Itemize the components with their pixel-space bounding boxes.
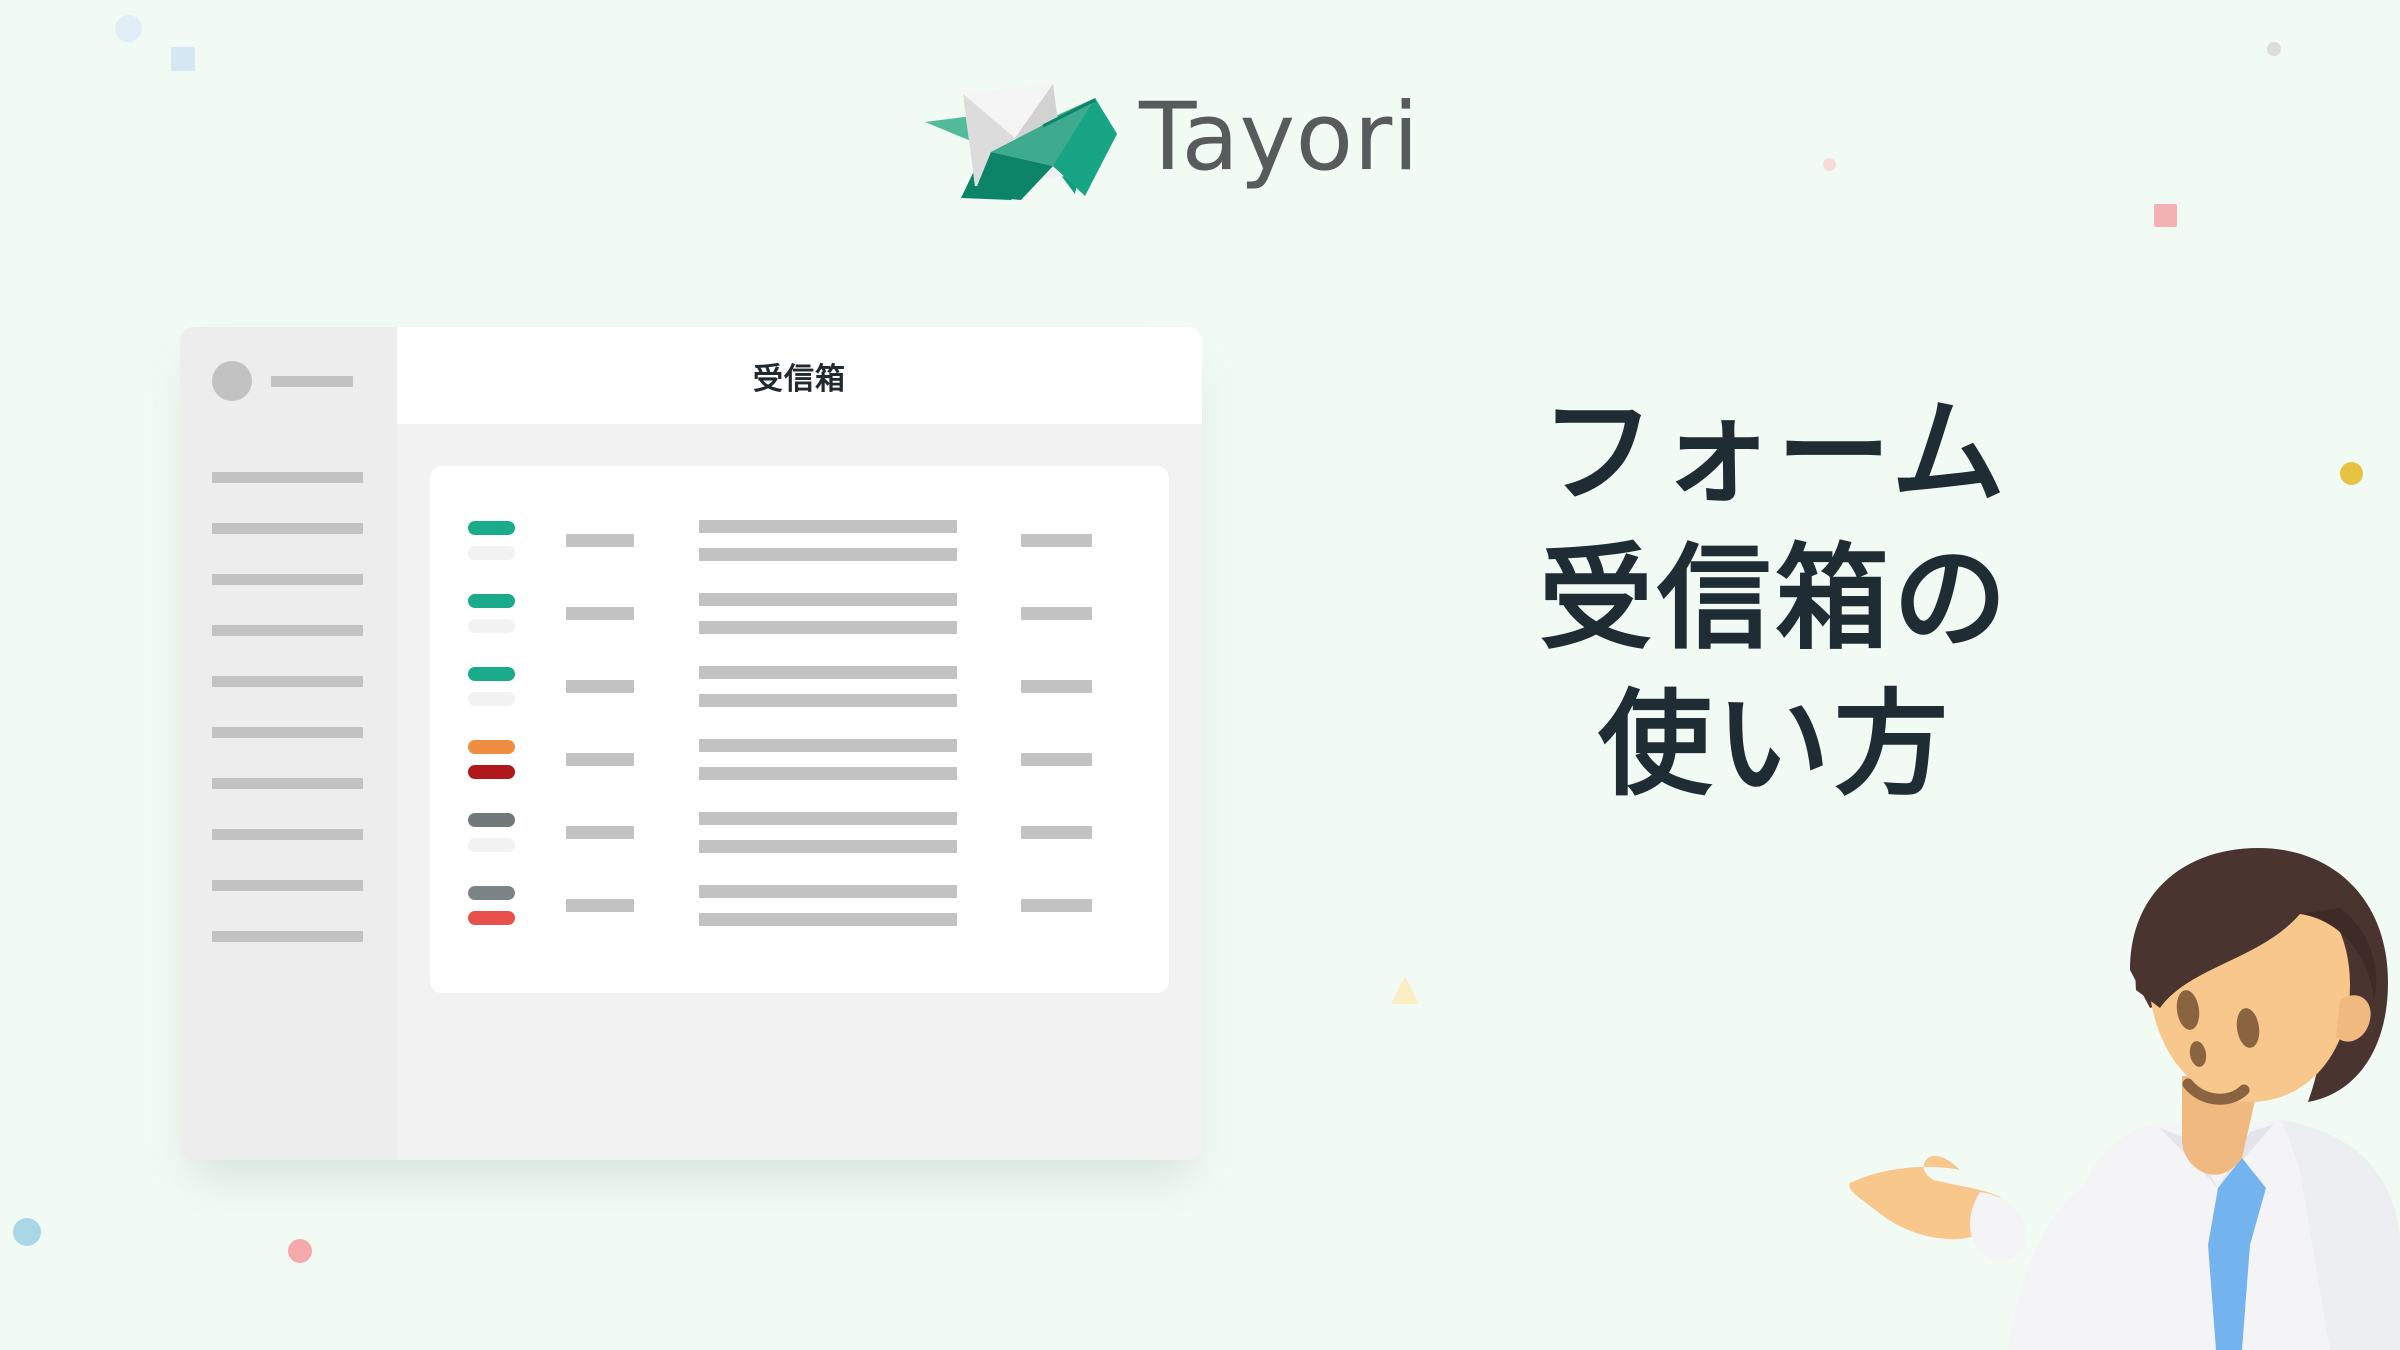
placeholder-bar [699, 812, 957, 825]
table-row[interactable] [468, 869, 1131, 942]
row-status-badges [468, 886, 546, 925]
status-badge [468, 692, 515, 706]
sidebar-item-3[interactable] [212, 574, 363, 585]
placeholder-bar [1021, 899, 1092, 912]
deco-circle-yellow-right [2340, 462, 2363, 485]
placeholder-bar [699, 885, 957, 898]
row-status-badges [468, 813, 546, 852]
table-row[interactable] [468, 577, 1131, 650]
businessman-presenting-illustration [1830, 840, 2400, 1350]
table-row[interactable] [468, 650, 1131, 723]
deco-circle-lightblue-topleft [115, 15, 142, 42]
row-col-meta [1021, 899, 1131, 912]
poster-canvas: Tayori 受信箱 フォーム受信箱の使い方 [0, 0, 2400, 1350]
tayori-logo: Tayori [925, 72, 1545, 204]
headline-line-2: 受信箱の [1430, 526, 2120, 672]
status-badge [468, 838, 515, 852]
sidebar-profile[interactable] [212, 361, 353, 401]
table-row[interactable] [468, 504, 1131, 577]
placeholder-bar [699, 520, 957, 533]
deco-dot-pink-top [1823, 158, 1836, 171]
row-status-badges [468, 667, 546, 706]
placeholder-bar [566, 534, 634, 547]
placeholder-bar [699, 739, 957, 752]
placeholder-bar [566, 753, 634, 766]
row-col-meta [1021, 826, 1131, 839]
status-badge [468, 813, 515, 827]
placeholder-bar [566, 680, 634, 693]
row-col-date [566, 607, 699, 620]
status-badge [468, 521, 515, 535]
row-col-date [566, 534, 699, 547]
placeholder-bar [699, 666, 957, 679]
sidebar-item-2[interactable] [212, 523, 363, 534]
placeholder-bar [566, 826, 634, 839]
status-badge [468, 546, 515, 560]
page-title: 受信箱 [753, 354, 846, 398]
status-badge [468, 886, 515, 900]
app-window-mockup: 受信箱 [180, 327, 1202, 1160]
status-badge [468, 594, 515, 608]
deco-circle-pink-bottomleft [288, 1239, 312, 1263]
table-row[interactable] [468, 723, 1131, 796]
placeholder-bar [1021, 680, 1092, 693]
row-col-date [566, 753, 699, 766]
sidebar-item-1[interactable] [212, 472, 363, 483]
sidebar-item-5[interactable] [212, 676, 363, 687]
row-col-content [699, 593, 989, 634]
row-col-content [699, 812, 989, 853]
row-col-meta [1021, 534, 1131, 547]
placeholder-bar [699, 694, 957, 707]
row-col-meta [1021, 753, 1131, 766]
sidebar-item-9[interactable] [212, 880, 363, 891]
status-badge [468, 740, 515, 754]
page-headline: フォーム受信箱の使い方 [1430, 380, 2120, 818]
app-sidebar [180, 327, 397, 1160]
row-status-badges [468, 594, 546, 633]
placeholder-bar [699, 621, 957, 634]
placeholder-bar [1021, 826, 1092, 839]
app-main: 受信箱 [397, 327, 1202, 1160]
sidebar-username-placeholder [271, 376, 353, 387]
status-badge [468, 619, 515, 633]
headline-line-1: フォーム [1430, 380, 2120, 526]
row-col-content [699, 666, 989, 707]
headline-line-3: 使い方 [1430, 672, 2120, 818]
status-badge [468, 765, 515, 779]
tayori-envelope-plane-logo-icon [925, 76, 1117, 200]
inbox-list-card [430, 466, 1169, 993]
placeholder-bar [566, 899, 634, 912]
placeholder-bar [699, 913, 957, 926]
row-col-content [699, 520, 989, 561]
row-status-badges [468, 740, 546, 779]
sidebar-item-4[interactable] [212, 625, 363, 636]
row-col-date [566, 680, 699, 693]
placeholder-bar [699, 840, 957, 853]
sidebar-item-8[interactable] [212, 829, 363, 840]
deco-dot-gray-topright [2267, 42, 2281, 56]
row-col-content [699, 885, 989, 926]
placeholder-bar [1021, 534, 1092, 547]
row-status-badges [468, 521, 546, 560]
row-col-meta [1021, 607, 1131, 620]
row-col-content [699, 739, 989, 780]
deco-square-pink-right [2154, 204, 2177, 227]
sidebar-nav [212, 472, 363, 982]
status-badge [468, 667, 515, 681]
deco-triangle-yellow-center [1391, 976, 1419, 1004]
placeholder-bar [566, 607, 634, 620]
inbox-body [397, 424, 1202, 1160]
placeholder-bar [699, 593, 957, 606]
deco-square-lightblue-topleft [171, 47, 195, 71]
deco-circle-blue-bottomleft [13, 1218, 41, 1246]
placeholder-bar [1021, 753, 1092, 766]
logo-wordmark: Tayori [1139, 91, 1419, 185]
sidebar-item-6[interactable] [212, 727, 363, 738]
placeholder-bar [699, 767, 957, 780]
placeholder-bar [699, 548, 957, 561]
row-col-date [566, 899, 699, 912]
avatar [212, 361, 252, 401]
table-row[interactable] [468, 796, 1131, 869]
row-col-meta [1021, 680, 1131, 693]
status-badge [468, 911, 515, 925]
row-col-date [566, 826, 699, 839]
inbox-header: 受信箱 [397, 327, 1202, 424]
sidebar-item-10[interactable] [212, 931, 363, 942]
sidebar-item-7[interactable] [212, 778, 363, 789]
placeholder-bar [1021, 607, 1092, 620]
